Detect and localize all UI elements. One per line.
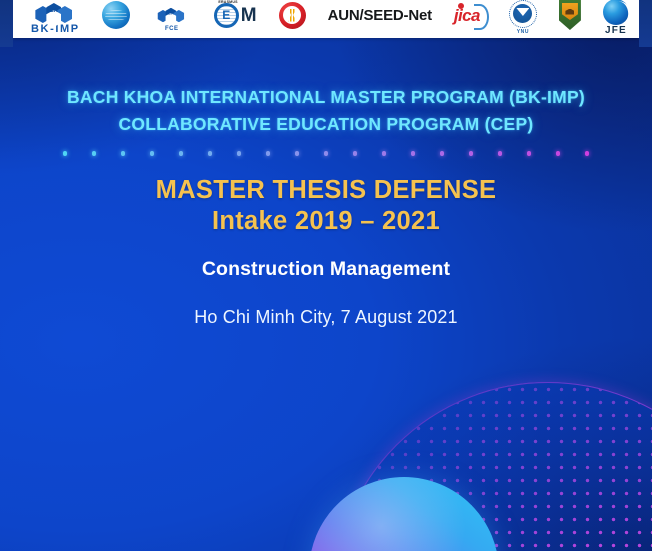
divider-dot	[411, 151, 416, 156]
divider-dot	[498, 151, 503, 156]
intake-subtitle: Intake 2019 – 2021	[0, 204, 652, 238]
divider-dot	[266, 151, 271, 156]
poster-content: BACH KHOA INTERNATIONAL MASTER PROGRAM (…	[0, 0, 652, 551]
program-line-2: COLLABORATIVE EDUCATION PROGRAM (CEP)	[0, 111, 652, 138]
page-title: MASTER THESIS DEFENSE	[0, 176, 652, 205]
divider-dot	[208, 151, 213, 156]
divider-dot	[440, 151, 445, 156]
divider-dot	[179, 151, 184, 156]
divider-dot	[237, 151, 242, 156]
divider-dot	[295, 151, 300, 156]
divider-dot	[150, 151, 155, 156]
divider-dot	[527, 151, 532, 156]
divider-dot	[382, 151, 387, 156]
dotted-divider	[0, 151, 652, 156]
divider-dot	[353, 151, 358, 156]
divider-dot	[121, 151, 126, 156]
event-poster: BK BK-IMP BK FCE E ERASMUS M	[0, 0, 652, 551]
divider-dot	[469, 151, 474, 156]
divider-dot	[585, 151, 590, 156]
divider-dot	[92, 151, 97, 156]
major-label: Construction Management	[0, 258, 652, 281]
divider-dot	[324, 151, 329, 156]
divider-dot	[63, 151, 68, 156]
venue-date-label: Ho Chi Minh City, 7 August 2021	[0, 307, 652, 328]
divider-dot	[556, 151, 561, 156]
program-line-1: BACH KHOA INTERNATIONAL MASTER PROGRAM (…	[0, 84, 652, 111]
